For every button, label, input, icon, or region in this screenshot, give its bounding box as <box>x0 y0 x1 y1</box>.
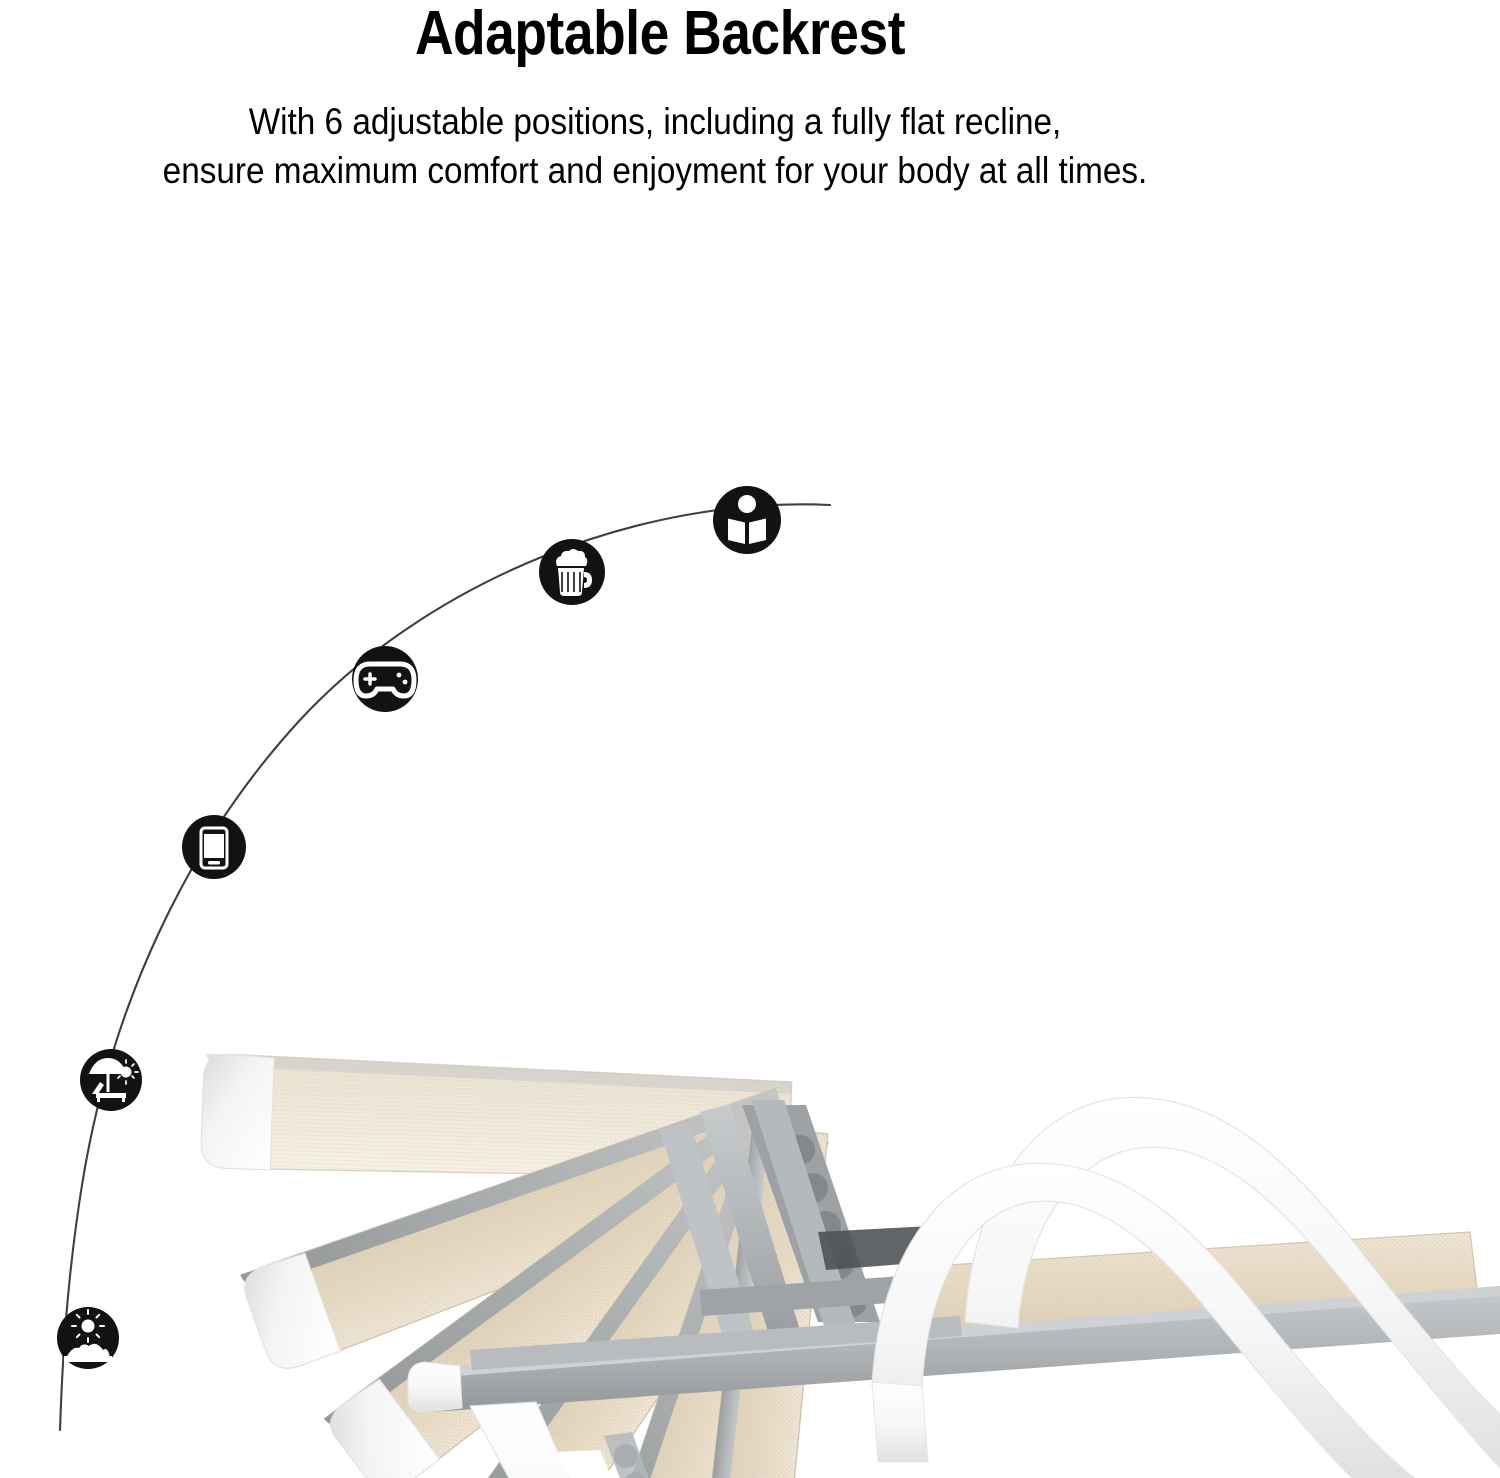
chaise-lounge-illustration <box>0 200 1500 1478</box>
sun-recline-icon[interactable] <box>57 1307 119 1369</box>
gamepad-icon[interactable] <box>352 646 418 712</box>
product-illustration-stage <box>0 200 1500 1478</box>
header-block: Adaptable Backrest With 6 adjustable pos… <box>0 0 1500 200</box>
smartphone-icon[interactable] <box>182 815 246 879</box>
subtitle-line-2: ensure maximum comfort and enjoyment for… <box>66 147 1245 196</box>
page-title: Adaptable Backrest <box>92 0 1227 69</box>
beach-lounger-icon[interactable] <box>80 1049 142 1111</box>
subtitle-line-1: With 6 adjustable positions, including a… <box>66 98 1245 147</box>
beer-mug-icon[interactable] <box>539 539 605 605</box>
page-subtitle: With 6 adjustable positions, including a… <box>66 98 1245 196</box>
reading-book-icon[interactable] <box>713 486 781 554</box>
